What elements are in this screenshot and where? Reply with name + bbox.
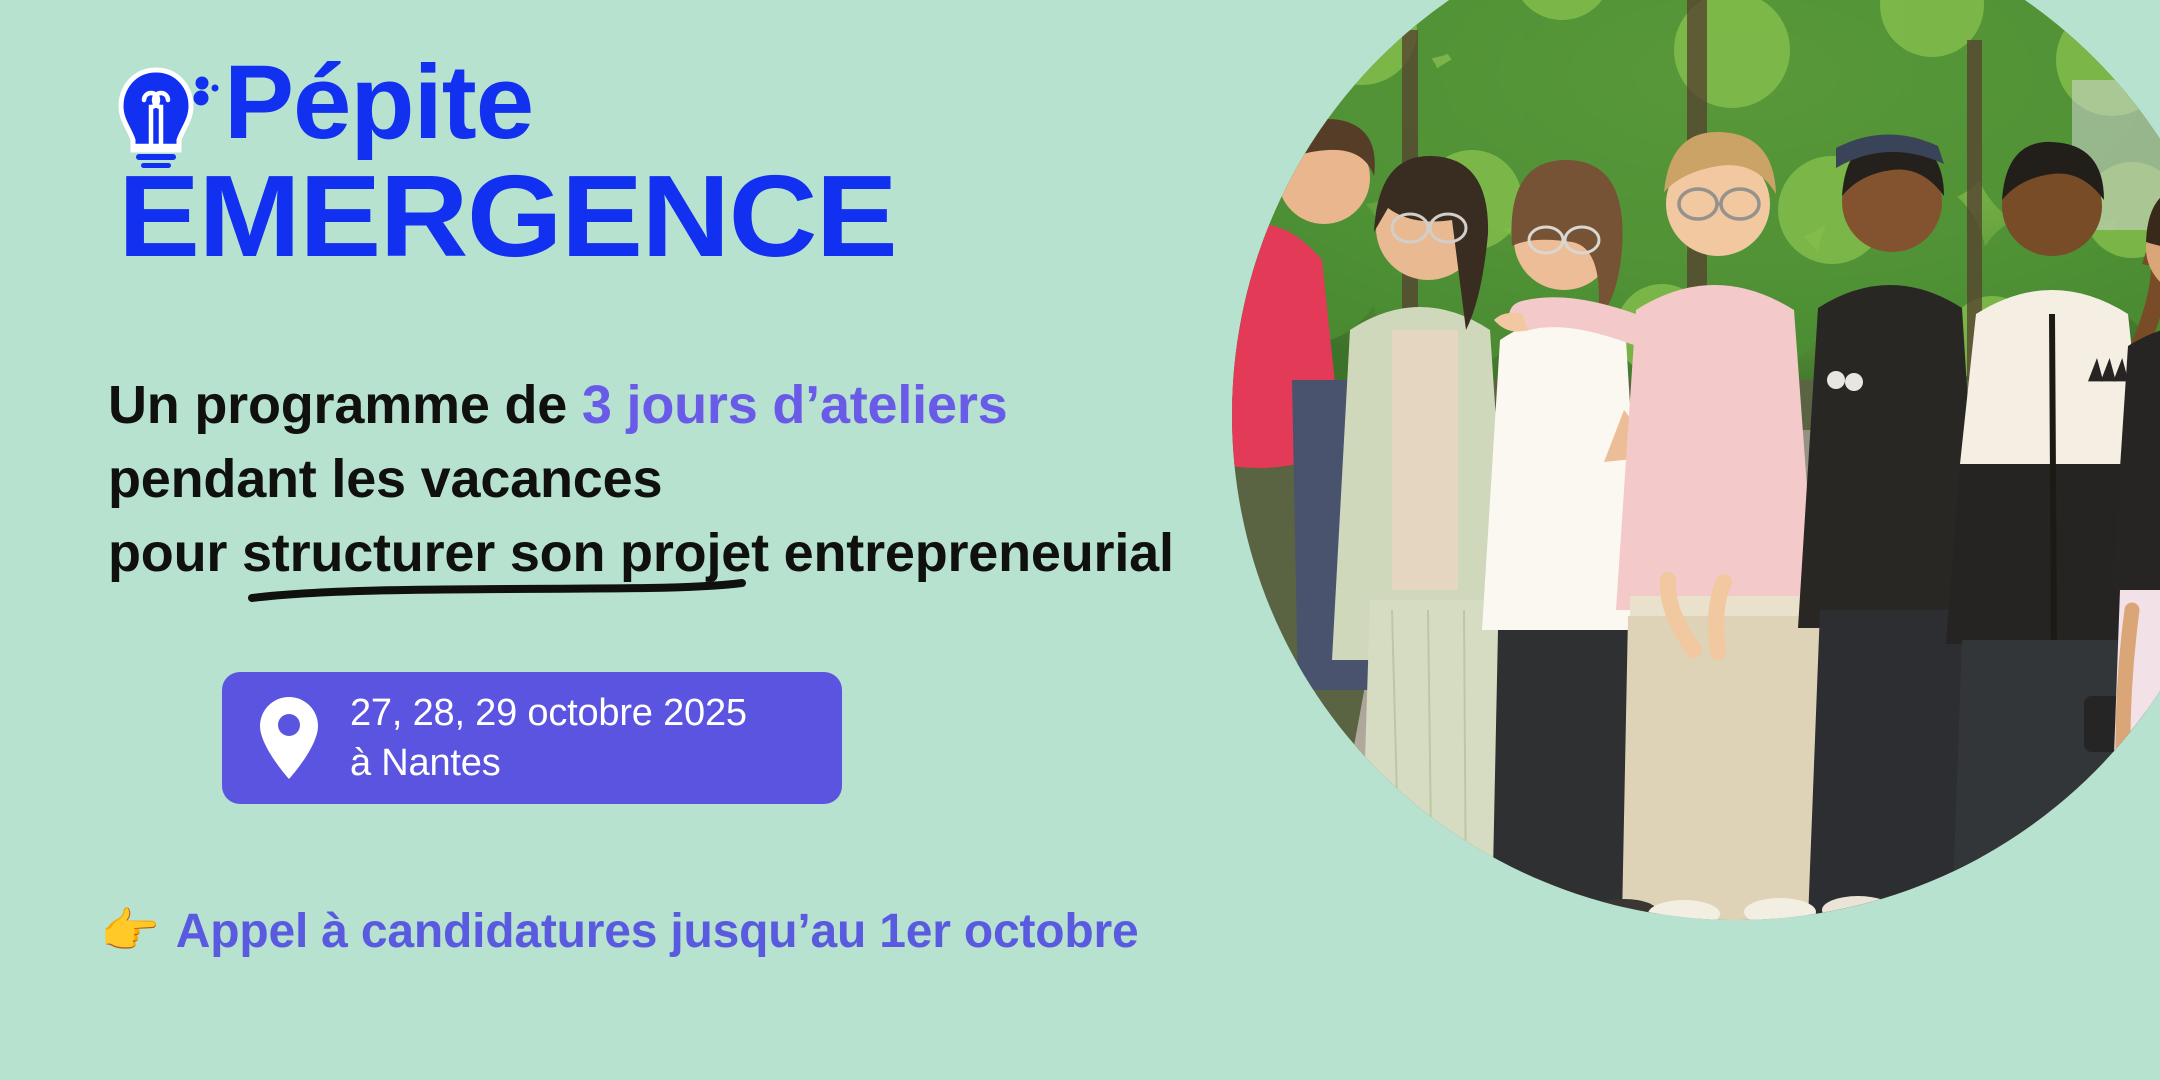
- tagline-line-1: Un programme de 3 jours d’ateliers: [108, 368, 1238, 442]
- tagline: Un programme de 3 jours d’ateliers penda…: [108, 368, 1238, 590]
- group-photo-illustration: [1232, 0, 2160, 920]
- tagline-line-1-accent: 3 jours d’ateliers: [582, 375, 1008, 435]
- left-content-column: Pépite EMERGENCE Un programme de 3 jours…: [0, 0, 1250, 1080]
- group-photo-circle: [1232, 0, 2160, 920]
- brand-name-pepite: Pépite: [224, 50, 533, 155]
- badge-dates: 27, 28, 29 octobre 2025: [350, 688, 747, 738]
- tagline-line-1-prefix: Un programme de: [108, 375, 582, 435]
- pointing-hand-icon: 👉: [100, 908, 160, 956]
- cta-label: Appel à candidatures jusqu’au 1er octobr…: [176, 908, 1139, 956]
- map-pin-icon: [258, 695, 320, 781]
- badge-place: à Nantes: [350, 738, 747, 788]
- call-to-action[interactable]: 👉 Appel à candidatures jusqu’au 1er octo…: [100, 908, 1138, 956]
- badge-text-block: 27, 28, 29 octobre 2025 à Nantes: [350, 688, 747, 788]
- promotional-banner: Pépite EMERGENCE Un programme de 3 jours…: [0, 0, 2160, 1080]
- brand-name-emergence: EMERGENCE: [118, 158, 896, 274]
- tagline-line-2: pendant les vacances: [108, 442, 1238, 516]
- handdrawn-underline: [248, 578, 748, 608]
- date-location-badge[interactable]: 27, 28, 29 octobre 2025 à Nantes: [222, 672, 842, 804]
- brand-logo: Pépite EMERGENCE: [118, 62, 938, 170]
